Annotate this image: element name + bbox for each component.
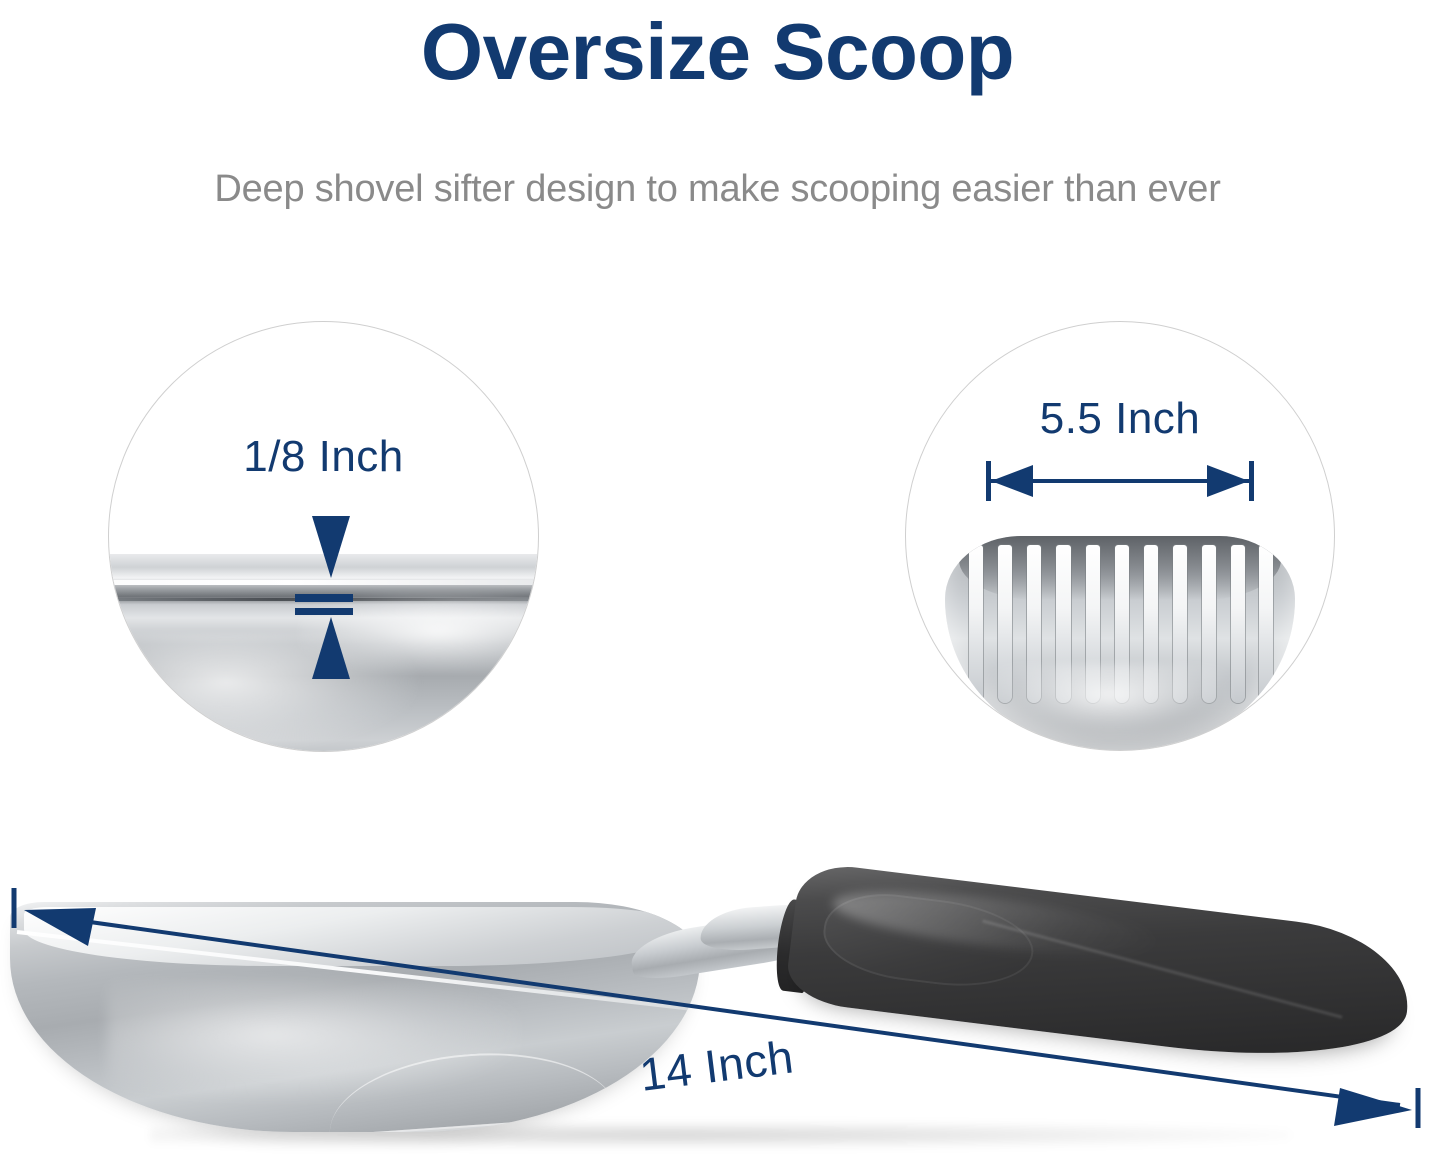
scoop-bowl-inner-lip (24, 907, 693, 967)
thickness-arrow-up-icon (312, 617, 350, 679)
dimension-cap-right (1249, 461, 1254, 501)
sifter-sheen (987, 664, 1233, 741)
rim-highlight-line (108, 580, 539, 585)
sifter-slot (969, 545, 983, 703)
page-subtitle: Deep shovel sifter design to make scoopi… (0, 168, 1435, 211)
callout-width: 5.5 Inch (905, 321, 1335, 751)
callout-thickness-label: 1/8 Inch (109, 432, 538, 482)
sifter-head-body (945, 536, 1296, 750)
arrow-left-icon (991, 465, 1033, 497)
thickness-bar-bottom (295, 608, 353, 615)
scoop-bowl (10, 902, 700, 1132)
handle-crease (982, 919, 1342, 1018)
sifter-head-photo (945, 536, 1296, 750)
thickness-bar-top (295, 594, 353, 602)
callout-thickness: 1/8 Inch (108, 321, 539, 752)
callout-width-label: 5.5 Inch (906, 394, 1334, 444)
sifter-slot (1231, 545, 1245, 703)
arrow-right-icon (1207, 465, 1249, 497)
infographic-canvas: Oversize Scoop Deep shovel sifter design… (0, 0, 1435, 1170)
page-title: Oversize Scoop (0, 10, 1435, 94)
sifter-slot (1259, 545, 1273, 703)
thickness-arrow-down-icon (312, 516, 350, 578)
scoop-handle (784, 861, 1416, 1076)
hero-product-photo (0, 860, 1435, 1170)
